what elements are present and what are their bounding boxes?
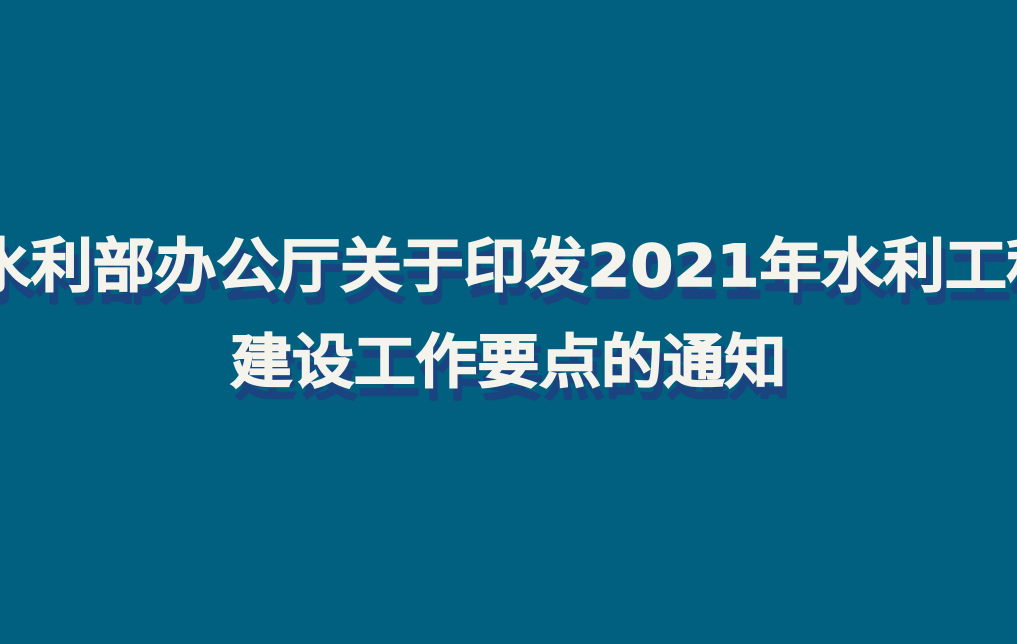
- title-line-1: 水利部办公厅关于印发2021年水利工程: [0, 237, 1017, 303]
- title-banner: 水利部办公厅关于印发2021年水利工程 建设工作要点的通知: [0, 0, 1017, 644]
- title-line-2: 建设工作要点的通知: [0, 333, 1017, 399]
- page-title: 水利部办公厅关于印发2021年水利工程 建设工作要点的通知: [0, 237, 1017, 399]
